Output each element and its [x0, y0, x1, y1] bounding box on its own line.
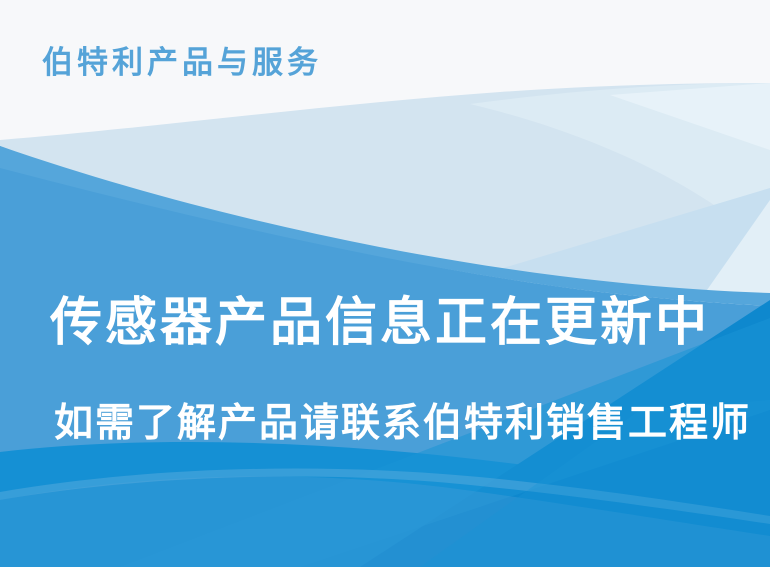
brand-title: 伯特利产品与服务 [42, 46, 322, 80]
headline-text: 传感器产品信息正在更新中 [50, 294, 710, 354]
text-layer: 伯特利产品与服务 传感器产品信息正在更新中 如需了解产品请联系伯特利销售工程师 [0, 0, 770, 567]
subheadline-text: 如需了解产品请联系伯特利销售工程师 [54, 402, 751, 447]
product-service-banner: 伯特利产品与服务 传感器产品信息正在更新中 如需了解产品请联系伯特利销售工程师 [0, 0, 770, 567]
